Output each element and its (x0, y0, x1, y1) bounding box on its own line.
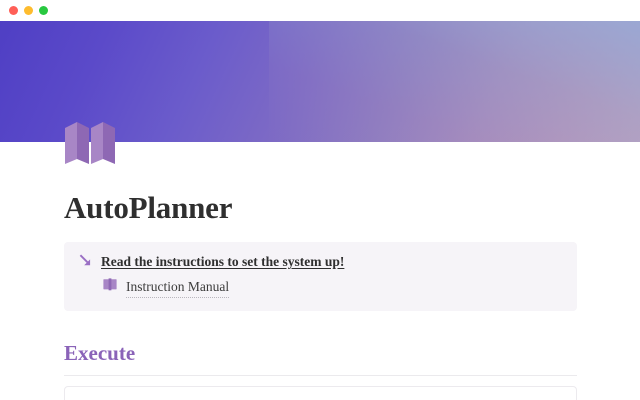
window-titlebar (0, 0, 640, 21)
section-heading-execute: Execute (64, 341, 640, 366)
callout-heading-row: Read the instructions to set the system … (78, 253, 563, 272)
cover-gradient-sheen (269, 21, 640, 142)
maximize-window-button[interactable] (39, 6, 48, 15)
instructions-callout[interactable]: Read the instructions to set the system … (64, 242, 577, 311)
callout-link-row[interactable]: Instruction Manual (78, 278, 563, 298)
page-body: AutoPlanner Read the instructions to set… (0, 142, 640, 400)
minimize-window-button[interactable] (24, 6, 33, 15)
close-window-button[interactable] (9, 6, 18, 15)
page-viewport: AutoPlanner Read the instructions to set… (0, 21, 640, 400)
section-divider (64, 375, 577, 376)
callout-heading-text: Read the instructions to set the system … (101, 253, 344, 271)
schedule-card[interactable]: Get your autogenerated schedule for the … (64, 386, 577, 400)
window-controls (9, 6, 48, 15)
folded-map-icon[interactable] (64, 119, 116, 165)
south-east-arrow-icon (78, 253, 92, 272)
open-book-icon (103, 278, 117, 295)
instruction-manual-link[interactable]: Instruction Manual (126, 278, 229, 298)
